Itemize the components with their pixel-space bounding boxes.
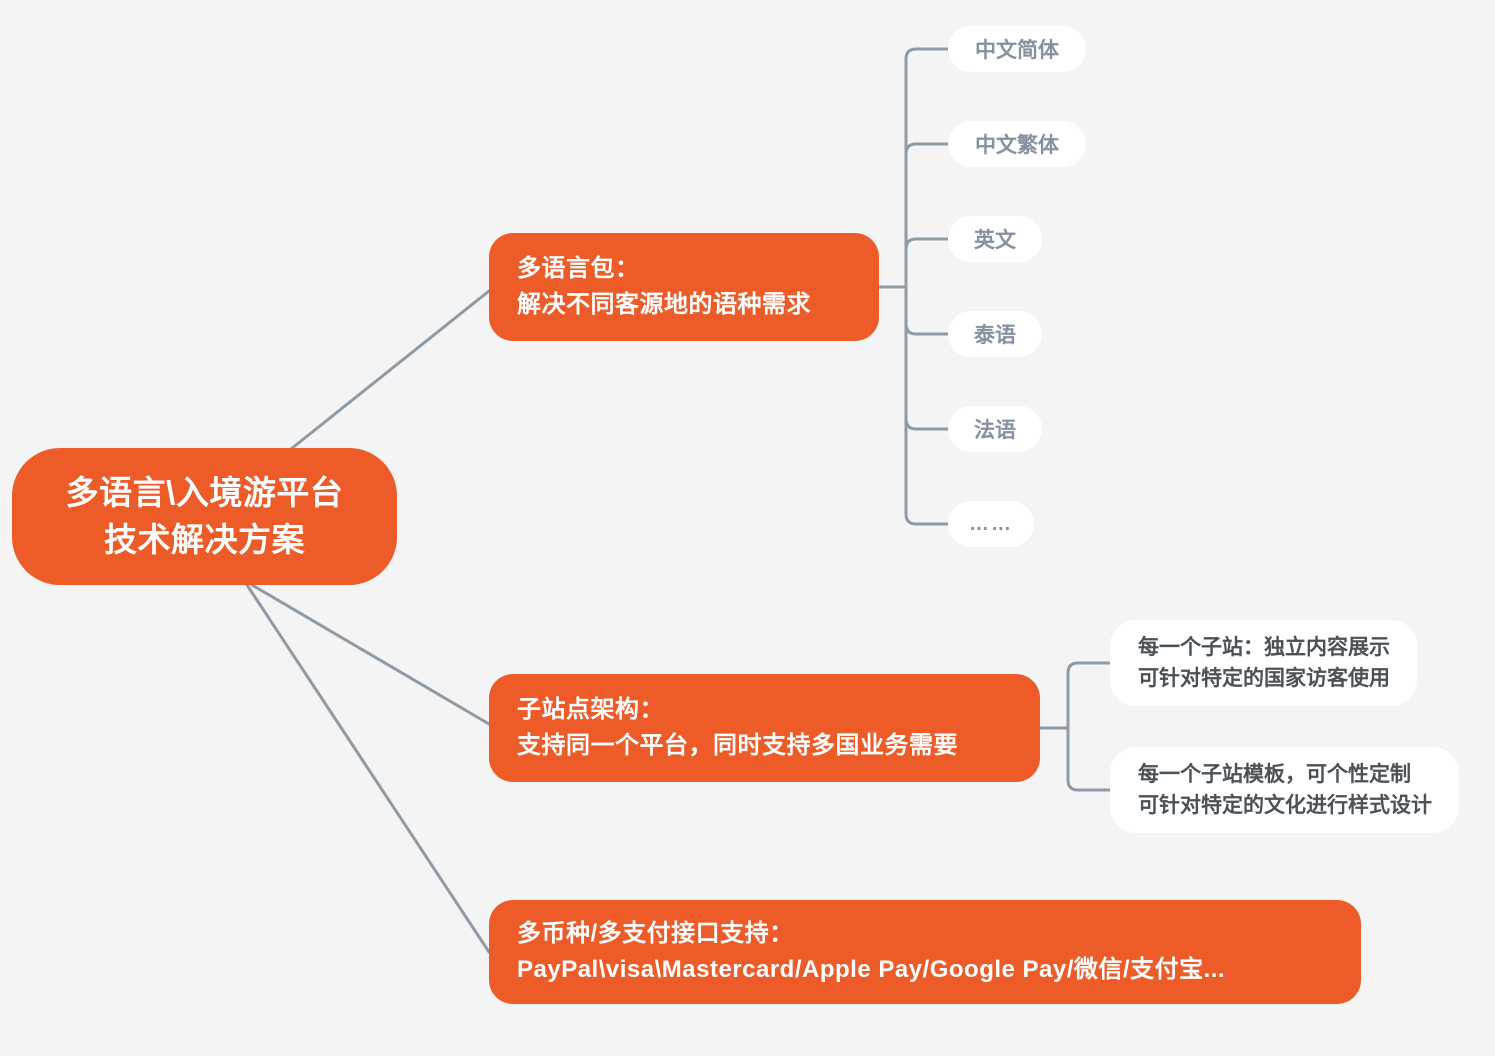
detail-card-line1: 每一个子站：独立内容展示	[1138, 632, 1389, 664]
root-node-line1: 多语言\入境游平台	[66, 470, 344, 517]
branch-node-multi-currency-payment[interactable]: 多币种/多支付接口支持： PayPal\visa\Mastercard/Appl…	[489, 900, 1361, 1004]
edge-branch2-card1	[1068, 663, 1110, 728]
leaf-node-more[interactable]: ……	[948, 501, 1034, 547]
leaf-node-french[interactable]: 法语	[948, 406, 1042, 452]
leaf-label: ……	[969, 513, 1013, 536]
root-node[interactable]: 多语言\入境游平台 技术解决方案	[12, 448, 397, 585]
leaf-node-english[interactable]: 英文	[948, 216, 1042, 262]
edge-branch2-card2	[1068, 728, 1110, 790]
detail-card-line1: 每一个子站模板，可个性定制	[1138, 759, 1431, 791]
detail-card-custom-template[interactable]: 每一个子站模板，可个性定制 可针对特定的文化进行样式设计	[1110, 747, 1459, 833]
detail-card-line2: 可针对特定的文化进行样式设计	[1138, 790, 1431, 822]
branch-multi-language-pack-line1: 多语言包：	[517, 251, 851, 287]
mindmap-canvas: 多语言\入境游平台 技术解决方案 多语言包： 解决不同客源地的语种需求 中文简体…	[0, 0, 1495, 1056]
edge-root-to-branch3	[247, 585, 489, 952]
detail-card-independent-content[interactable]: 每一个子站：独立内容展示 可针对特定的国家访客使用	[1110, 620, 1417, 706]
leaf-label: 中文繁体	[975, 129, 1059, 159]
branch-multi-currency-payment-line2: PayPal\visa\Mastercard/Apple Pay/Google …	[517, 952, 1333, 988]
leaf-label: 英文	[974, 224, 1016, 254]
branch-node-subsite-architecture[interactable]: 子站点架构： 支持同一个平台，同时支持多国业务需要	[489, 674, 1040, 782]
edge-branch1-leaf6	[906, 287, 948, 524]
branch-subsite-architecture-line1: 子站点架构：	[517, 692, 1012, 728]
leaf-label: 泰语	[974, 319, 1016, 349]
leaf-node-chinese-simplified[interactable]: 中文简体	[948, 26, 1086, 72]
edge-branch1-leaf1	[906, 49, 948, 287]
edge-branch1-leaf3	[906, 239, 948, 287]
edge-branch1-leaf2	[906, 144, 948, 287]
branch-multi-language-pack-line2: 解决不同客源地的语种需求	[517, 287, 851, 323]
leaf-label: 中文简体	[975, 34, 1059, 64]
edge-root-to-branch2	[252, 585, 489, 724]
edge-branch1-leaf4	[906, 287, 948, 334]
detail-card-line2: 可针对特定的国家访客使用	[1138, 663, 1389, 695]
branch-multi-currency-payment-line1: 多币种/多支付接口支持：	[517, 916, 1333, 952]
edge-branch1-leaf5	[906, 287, 948, 429]
leaf-node-thai[interactable]: 泰语	[948, 311, 1042, 357]
branch-node-multi-language-pack[interactable]: 多语言包： 解决不同客源地的语种需求	[489, 233, 879, 341]
leaf-label: 法语	[974, 414, 1016, 444]
root-node-line2: 技术解决方案	[104, 517, 305, 564]
edge-root-to-branch1	[291, 291, 489, 449]
leaf-node-chinese-traditional[interactable]: 中文繁体	[948, 121, 1086, 167]
branch-subsite-architecture-line2: 支持同一个平台，同时支持多国业务需要	[517, 728, 1012, 764]
